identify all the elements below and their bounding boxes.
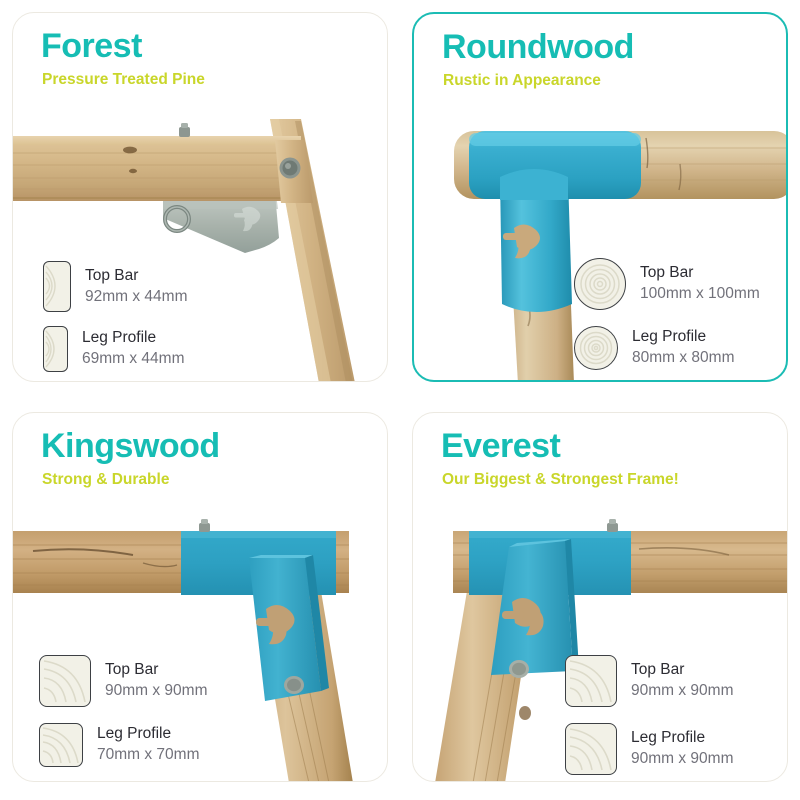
profile-swatch-top-bar	[565, 655, 617, 707]
profile-swatch-top-bar	[39, 655, 91, 707]
cell-everest: Everest Our Biggest & Strongest Frame!	[400, 400, 800, 800]
legend-row-leg-profile: Leg Profile 90mm x 90mm	[565, 723, 734, 775]
spec-dimension: 90mm x 90mm	[105, 681, 208, 702]
card-roundwood[interactable]: Roundwood Rustic in Appearance	[412, 12, 788, 382]
cell-roundwood: Roundwood Rustic in Appearance	[400, 0, 800, 400]
profile-swatch-leg-profile	[574, 326, 618, 370]
spec-dimension: 70mm x 70mm	[97, 745, 200, 766]
spec-label: Top Bar	[105, 660, 208, 681]
spec-label: Leg Profile	[631, 728, 734, 749]
spec-dimension: 90mm x 90mm	[631, 681, 734, 702]
legend-row-top-bar: Top Bar 92mm x 44mm	[43, 261, 188, 312]
frame-comparison-grid: Forest Pressure Treated Pine	[0, 0, 800, 800]
card-subtitle-everest: Our Biggest & Strongest Frame!	[442, 471, 679, 489]
spec-dimension: 69mm x 44mm	[82, 349, 185, 370]
card-title-kingswood: Kingswood	[41, 429, 220, 465]
spec-label: Leg Profile	[97, 724, 200, 745]
card-forest[interactable]: Forest Pressure Treated Pine	[12, 12, 388, 382]
profile-swatch-leg-profile	[43, 326, 68, 372]
profile-swatch-top-bar	[574, 258, 626, 310]
legend-row-leg-profile: Leg Profile 69mm x 44mm	[43, 326, 188, 372]
spec-dimension: 80mm x 80mm	[632, 348, 735, 369]
card-subtitle-kingswood: Strong & Durable	[42, 471, 169, 489]
legend-row-leg-profile: Leg Profile 80mm x 80mm	[574, 326, 760, 370]
spec-dimension: 90mm x 90mm	[631, 749, 734, 770]
card-title-forest: Forest	[41, 29, 142, 65]
legend-row-top-bar: Top Bar 100mm x 100mm	[574, 258, 760, 310]
spec-dimension: 100mm x 100mm	[640, 284, 760, 305]
legend-forest: Top Bar 92mm x 44mm	[43, 261, 188, 372]
spec-label: Leg Profile	[82, 328, 185, 349]
card-kingswood[interactable]: Kingswood Strong & Durable	[12, 412, 388, 782]
card-title-roundwood: Roundwood	[442, 30, 634, 66]
legend-row-leg-profile: Leg Profile 70mm x 70mm	[39, 723, 208, 767]
card-title-everest: Everest	[441, 429, 560, 465]
profile-swatch-leg-profile	[39, 723, 83, 767]
card-subtitle-forest: Pressure Treated Pine	[42, 71, 205, 89]
spec-label: Top Bar	[631, 660, 734, 681]
cell-kingswood: Kingswood Strong & Durable	[0, 400, 400, 800]
card-everest[interactable]: Everest Our Biggest & Strongest Frame!	[412, 412, 788, 782]
legend-everest: Top Bar 90mm x 90mm	[565, 655, 734, 775]
profile-swatch-top-bar	[43, 261, 71, 312]
profile-swatch-leg-profile	[565, 723, 617, 775]
card-subtitle-roundwood: Rustic in Appearance	[443, 72, 601, 90]
legend-row-top-bar: Top Bar 90mm x 90mm	[39, 655, 208, 707]
legend-roundwood: Top Bar 100mm x 100mm	[574, 258, 760, 370]
spec-dimension: 92mm x 44mm	[85, 287, 188, 308]
spec-label: Leg Profile	[632, 327, 735, 348]
legend-row-top-bar: Top Bar 90mm x 90mm	[565, 655, 734, 707]
cell-forest: Forest Pressure Treated Pine	[0, 0, 400, 400]
spec-label: Top Bar	[85, 266, 188, 287]
spec-label: Top Bar	[640, 263, 760, 284]
legend-kingswood: Top Bar 90mm x 90mm	[39, 655, 208, 767]
